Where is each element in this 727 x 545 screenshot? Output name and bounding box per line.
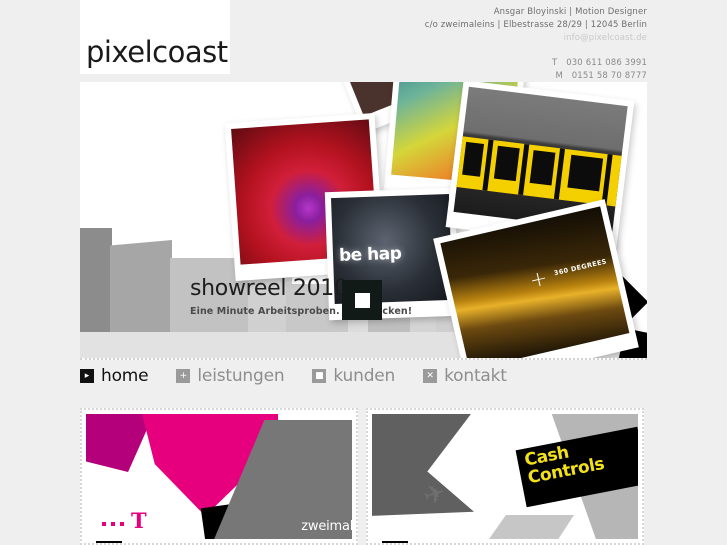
nav-item-leistungen[interactable]: + leistungen bbox=[176, 366, 284, 386]
plus-icon: + bbox=[176, 369, 190, 383]
play-square-icon[interactable] bbox=[342, 280, 382, 320]
chart-icon: ■ bbox=[312, 369, 326, 383]
nav-label-kontakt: kontakt bbox=[444, 366, 507, 386]
nav-item-kontakt[interactable]: ✕ kontakt bbox=[423, 366, 507, 386]
portfolio-item-cash-controls[interactable]: ✈ Cash Controls bbox=[366, 408, 644, 545]
portfolio-caption: zweimaleins bbox=[301, 519, 352, 534]
page-root: pixelcoast Ansgar Bloyinski | Motion Des… bbox=[0, 0, 727, 545]
train-window bbox=[567, 155, 603, 191]
plus-marker-icon: + bbox=[528, 267, 550, 291]
card-caption: be hap bbox=[339, 243, 402, 265]
contact-phone-row: T 030 611 086 3991 bbox=[425, 57, 647, 70]
contact-line-2: c/o zweimaleins | Elbestrasse 28/29 | 12… bbox=[425, 19, 647, 32]
card-caption: 360 DEGREES bbox=[553, 257, 607, 277]
contact-email[interactable]: info@pixelcoast.de bbox=[425, 32, 647, 45]
train-window bbox=[494, 146, 520, 181]
arrow-right-icon: ▸ bbox=[80, 369, 94, 383]
portfolio-grid: zweimaleins T ✈ Cash Controls bbox=[80, 408, 644, 545]
envelope-icon: ✕ bbox=[423, 369, 437, 383]
main-navigation: ▸ home + leistungen ■ kunden ✕ kontakt bbox=[80, 366, 535, 386]
nav-label-home: home bbox=[101, 366, 148, 386]
nav-item-kunden[interactable]: ■ kunden bbox=[312, 366, 395, 386]
gray-shape bbox=[372, 414, 474, 516]
t-mobile-logo: T bbox=[102, 513, 147, 529]
portfolio-item-zweimaleins[interactable]: zweimaleins T bbox=[80, 408, 358, 545]
building bbox=[110, 240, 172, 332]
mobile-number: 0151 58 70 8777 bbox=[572, 71, 647, 81]
site-logo[interactable]: pixelcoast bbox=[86, 38, 228, 67]
hero-inner: be hap + bbox=[80, 82, 647, 358]
hero-banner[interactable]: be hap + bbox=[80, 82, 647, 360]
contact-phones: T 030 611 086 3991 M 0151 58 70 8777 bbox=[425, 57, 647, 83]
nav-item-home[interactable]: ▸ home bbox=[80, 366, 148, 386]
building bbox=[80, 228, 112, 332]
phone-label: T bbox=[552, 58, 558, 68]
portfolio-thumbnail: ✈ Cash Controls bbox=[372, 414, 638, 539]
contact-mobile-row: M 0151 58 70 8777 bbox=[425, 70, 647, 83]
contact-line-1: Ansgar Bloyinski | Motion Designer bbox=[425, 6, 647, 19]
phone-number: 030 611 086 3991 bbox=[566, 58, 647, 68]
gray-shape bbox=[482, 515, 574, 539]
nav-label-leistungen: leistungen bbox=[197, 366, 284, 386]
train-window bbox=[530, 151, 556, 186]
contact-block: Ansgar Bloyinski | Motion Designer c/o z… bbox=[425, 6, 647, 83]
tile-corner-marker bbox=[96, 541, 122, 545]
tile-corner-marker bbox=[382, 541, 408, 545]
mobile-label: M bbox=[555, 71, 563, 81]
portfolio-thumbnail: zweimaleins T bbox=[86, 414, 352, 539]
nav-label-kunden: kunden bbox=[333, 366, 395, 386]
